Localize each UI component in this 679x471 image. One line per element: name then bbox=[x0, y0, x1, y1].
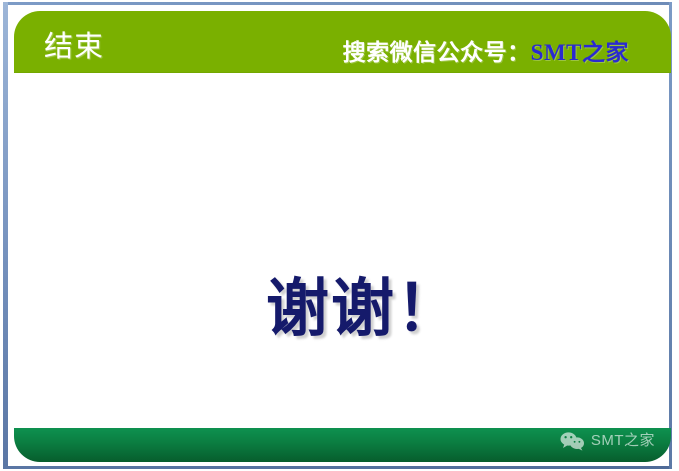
slide-header-band: 结束 搜索微信公众号：SMT之家 bbox=[14, 11, 671, 73]
slide-footer-band: SMT之家 bbox=[14, 428, 671, 462]
slide-border-bottom bbox=[6, 466, 671, 469]
header-promo-prefix: 搜索微信公众号： bbox=[343, 40, 531, 65]
presentation-slide: 结束 搜索微信公众号：SMT之家 谢谢！ SMT之家 bbox=[0, 0, 679, 471]
slide-title: 结束 bbox=[44, 30, 104, 64]
footer-watermark-label: SMT之家 bbox=[591, 432, 655, 450]
header-promo-text: 搜索微信公众号：SMT之家 bbox=[343, 39, 629, 67]
footer-watermark: SMT之家 bbox=[559, 431, 655, 451]
slide-border-top bbox=[6, 2, 671, 5]
slide-content-area: 谢谢！ bbox=[8, 73, 669, 428]
header-promo-brand: SMT之家 bbox=[531, 40, 629, 65]
thank-you-message: 谢谢！ bbox=[266, 271, 461, 347]
wechat-icon bbox=[559, 431, 585, 451]
